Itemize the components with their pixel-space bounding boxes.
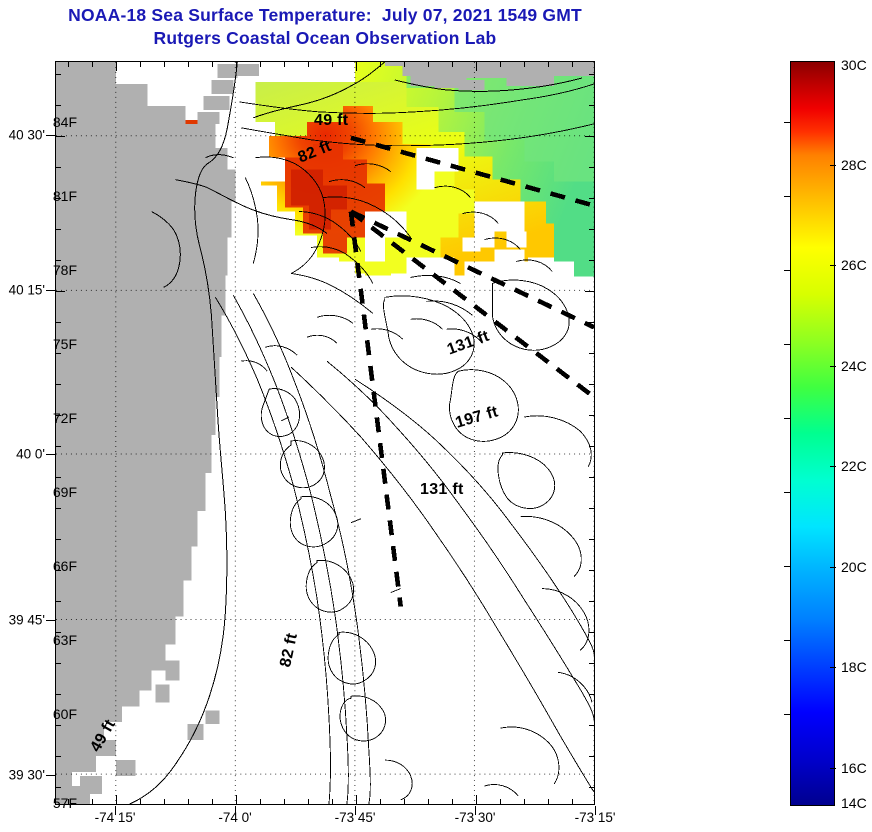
- colorbar-tick-fahrenheit: [784, 492, 790, 493]
- x-axis-tick: [355, 806, 356, 815]
- gridlines: [56, 62, 594, 804]
- colorbar-tick-fahrenheit: [784, 270, 790, 271]
- colorbar-label-fahrenheit: 72F: [53, 410, 82, 426]
- colorbar-label-fahrenheit: 81F: [53, 188, 82, 204]
- y-axis-tick: [46, 620, 55, 621]
- axis-tick: [589, 508, 594, 509]
- x-axis-tick: [115, 806, 116, 815]
- axis-tick: [56, 756, 61, 757]
- axis-tick: [589, 787, 594, 788]
- x-axis-tick: [595, 806, 596, 815]
- title-line-1: NOAA-18 Sea Surface Temperature: July 07…: [0, 4, 650, 27]
- axis-tick: [589, 663, 594, 664]
- plot-inner: [56, 62, 594, 804]
- axis-tick: [589, 353, 594, 354]
- axis-tick: [589, 229, 594, 230]
- axis-tick: [56, 539, 61, 540]
- colorbar-label-fahrenheit: 63F: [53, 632, 82, 648]
- axis-tick: [589, 322, 594, 323]
- axis-tick: [56, 508, 61, 509]
- axis-tick: [116, 62, 117, 71]
- axis-tick: [404, 62, 405, 67]
- axis-tick: [140, 799, 141, 804]
- axis-tick: [589, 260, 594, 261]
- axis-tick: [585, 291, 594, 292]
- axis-tick: [56, 694, 61, 695]
- axis-tick: [589, 725, 594, 726]
- axis-tick: [56, 291, 65, 292]
- colorbar-tick-fahrenheit: [784, 566, 790, 567]
- colorbar-tick-fahrenheit: [784, 640, 790, 641]
- axis-tick: [332, 62, 333, 67]
- axis-tick: [164, 62, 165, 67]
- axis-tick: [260, 62, 261, 67]
- colorbar-label-celsius: 18C: [841, 659, 867, 675]
- axis-tick: [380, 62, 381, 67]
- colorbar-label-celsius: 30C: [841, 57, 867, 73]
- y-axis-tick: [46, 775, 55, 776]
- axis-tick: [589, 446, 594, 447]
- axis-tick: [140, 62, 141, 67]
- axis-tick: [589, 756, 594, 757]
- y-axis-label: 40 0': [16, 447, 45, 462]
- colorbar-tick-celsius: [830, 265, 836, 266]
- title-line-2: Rutgers Coastal Ocean Observation Lab: [0, 27, 650, 50]
- axis-tick: [308, 799, 309, 804]
- axis-tick: [356, 795, 357, 804]
- axis-tick: [589, 105, 594, 106]
- colorbar-tick-fahrenheit: [784, 714, 790, 715]
- colorbar-label-celsius: 14C: [841, 795, 867, 811]
- axis-tick: [92, 62, 93, 67]
- axis-tick: [589, 415, 594, 416]
- colorbar-tick-celsius: [830, 768, 836, 769]
- axis-tick: [404, 799, 405, 804]
- axis-tick: [56, 353, 61, 354]
- axis-tick: [589, 384, 594, 385]
- y-axis-tick: [46, 135, 55, 136]
- axis-tick: [164, 799, 165, 804]
- colorbar-label-fahrenheit: 75F: [53, 336, 82, 352]
- x-axis-tick: [475, 806, 476, 815]
- axis-tick: [56, 384, 61, 385]
- chart-title-block: NOAA-18 Sea Surface Temperature: July 07…: [0, 4, 650, 50]
- axis-tick: [380, 799, 381, 804]
- axis-tick: [524, 799, 525, 804]
- axis-tick: [212, 62, 213, 67]
- x-axis-tick: [235, 806, 236, 815]
- colorbar-label-celsius: 16C: [841, 760, 867, 776]
- axis-tick: [589, 570, 594, 571]
- colorbar-label-fahrenheit: 69F: [53, 484, 82, 500]
- axis-tick: [284, 62, 285, 67]
- axis-tick: [56, 229, 61, 230]
- colorbar-tick-celsius: [830, 466, 836, 467]
- axis-tick: [589, 477, 594, 478]
- axis-tick: [92, 799, 93, 804]
- colorbar-tick-celsius: [830, 567, 836, 568]
- colorbar-tick-celsius: [830, 165, 836, 166]
- colorbar-label-celsius: 24C: [841, 358, 867, 374]
- axis-tick: [476, 62, 477, 71]
- axis-tick: [500, 799, 501, 804]
- axis-tick: [116, 795, 117, 804]
- colorbar-label-fahrenheit: 57F: [53, 795, 82, 811]
- colorbar-tick-celsius: [830, 667, 836, 668]
- axis-tick: [236, 62, 237, 71]
- axis-tick: [212, 799, 213, 804]
- axis-tick: [56, 477, 61, 478]
- axis-tick: [56, 601, 61, 602]
- axis-tick: [56, 787, 61, 788]
- axis-tick: [476, 795, 477, 804]
- axis-tick: [56, 136, 65, 137]
- colorbar-label-celsius: 20C: [841, 559, 867, 575]
- colorbar-label-celsius: 26C: [841, 257, 867, 273]
- axis-tick: [428, 799, 429, 804]
- axis-tick: [589, 601, 594, 602]
- y-axis-label: 40 15': [9, 283, 45, 298]
- axis-tick: [500, 62, 501, 67]
- axis-tick: [56, 260, 61, 261]
- axis-tick: [284, 799, 285, 804]
- colorbar-label-celsius: 28C: [841, 157, 867, 173]
- colorbar-label-fahrenheit: 78F: [53, 262, 82, 278]
- colorbar-tick-fahrenheit: [784, 418, 790, 419]
- colorbar-label-fahrenheit: 84F: [53, 114, 82, 130]
- axis-tick: [308, 62, 309, 67]
- depth-contour-label: 49 ft: [314, 112, 348, 130]
- axis-tick: [68, 62, 69, 67]
- axis-tick: [56, 74, 61, 75]
- colorbar-tick-celsius: [830, 366, 836, 367]
- axis-tick: [428, 62, 429, 67]
- axis-tick: [589, 167, 594, 168]
- axis-tick: [56, 322, 61, 323]
- colorbar-label-celsius: 22C: [841, 458, 867, 474]
- colorbar-label-fahrenheit: 66F: [53, 558, 82, 574]
- depth-contour-label: 131 ft: [420, 481, 464, 499]
- axis-tick: [572, 62, 573, 67]
- axis-tick: [356, 62, 357, 71]
- colorbar-label-fahrenheit: 60F: [53, 706, 82, 722]
- y-axis-label: 39 45': [9, 613, 45, 628]
- y-axis-tick: [46, 454, 55, 455]
- sst-map-plot: [55, 61, 595, 805]
- y-axis-label: 40 30': [9, 128, 45, 143]
- axis-tick: [188, 799, 189, 804]
- axis-tick: [589, 74, 594, 75]
- axis-tick: [56, 105, 61, 106]
- axis-tick: [56, 446, 61, 447]
- colorbar-tick-fahrenheit: [784, 196, 790, 197]
- axis-tick: [572, 799, 573, 804]
- axis-tick: [56, 167, 61, 168]
- axis-tick: [548, 62, 549, 67]
- axis-tick: [56, 663, 61, 664]
- axis-tick: [236, 795, 237, 804]
- axis-tick: [524, 62, 525, 67]
- y-axis-label: 39 30': [9, 768, 45, 783]
- temperature-colorbar[interactable]: [790, 61, 835, 806]
- axis-tick: [452, 799, 453, 804]
- axis-tick: [188, 62, 189, 67]
- axis-tick: [585, 136, 594, 137]
- axis-tick: [589, 632, 594, 633]
- axis-tick: [548, 799, 549, 804]
- axis-tick: [589, 694, 594, 695]
- axis-tick: [260, 799, 261, 804]
- colorbar-tick-fahrenheit: [784, 122, 790, 123]
- axis-tick: [332, 799, 333, 804]
- axis-tick: [589, 539, 594, 540]
- axis-tick: [56, 725, 61, 726]
- axis-tick: [589, 198, 594, 199]
- colorbar-tick-fahrenheit: [784, 344, 790, 345]
- axis-tick: [452, 62, 453, 67]
- y-axis-tick: [46, 290, 55, 291]
